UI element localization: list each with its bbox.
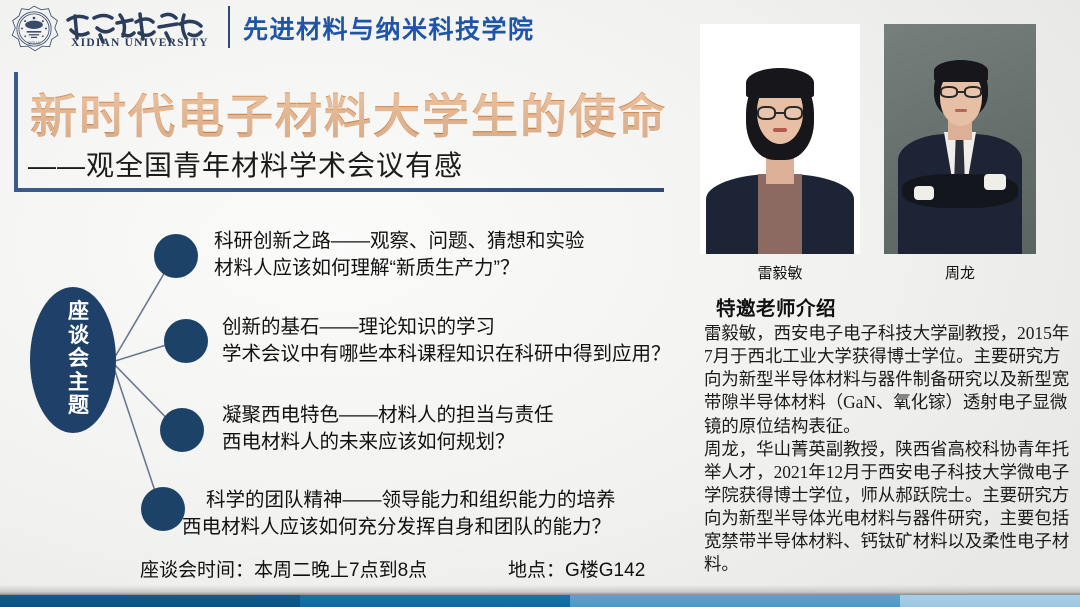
slide-header: XIDIAN XIDIAN UNIVERSITY 先进材料与纳米科技学院 <box>0 0 690 58</box>
svg-text:XIDIAN: XIDIAN <box>28 42 41 46</box>
university-english-name: XIDIAN UNIVERSITY <box>64 37 216 49</box>
bottom-strip-band-3 <box>570 595 900 607</box>
session-footer: 座谈会时间：本周二晚上7点到8点 地点：G楼G142 <box>0 555 690 585</box>
intro-body: 雷毅敏，西安电子电子科技大学副教授，2015年7月于西北工业大学获得博士学位。主… <box>704 322 1076 577</box>
center-label-c1: 座 <box>68 300 90 323</box>
vertical-divider-icon <box>228 6 230 48</box>
center-label-c4: 主 <box>68 371 90 394</box>
university-seal-icon: XIDIAN <box>8 4 60 56</box>
intro-paragraph-1: 雷毅敏，西安电子电子科技大学副教授，2015年7月于西北工业大学获得博士学位。主… <box>704 322 1076 438</box>
mindmap-item-3-text: 凝聚西电特色——材料人的担当与责任 西电材料人的未来应该如何规划？ <box>222 402 554 456</box>
bottom-strip-band-1 <box>0 595 300 607</box>
page-subtitle: ——观全国青年材料学术会议有感 <box>28 144 463 184</box>
item-4-line-1: 科学的团队精神——领导能力和组织能力的培养 <box>206 487 616 514</box>
portrait-lei-yimin <box>700 24 860 254</box>
item-3-line-1: 凝聚西电特色——材料人的担当与责任 <box>222 402 554 429</box>
page-title: 新时代电子材料大学生的使命 <box>30 78 667 147</box>
center-label-c5: 题 <box>68 394 90 417</box>
mindmap-item-1-text: 科研创新之路——观察、问题、猜想和实验 材料人应该如何理解“新质生产力”？ <box>214 228 585 282</box>
bottom-strip-band-4 <box>900 595 1080 607</box>
bottom-strip-band-2 <box>300 595 570 607</box>
item-2-line-2: 学术会议中有哪些本科课程知识在科研中得到应用？ <box>222 341 671 368</box>
session-time: 座谈会时间：本周二晚上7点到8点 <box>140 555 427 582</box>
mindmap-node-4[interactable] <box>141 487 185 531</box>
bottom-strip-shadow <box>0 585 1080 595</box>
portrait-caption-1: 雷毅敏 <box>700 262 860 283</box>
portrait-zhou-long <box>884 24 1036 254</box>
mindmap-node-1[interactable] <box>154 234 198 278</box>
item-1-line-2: 材料人应该如何理解“新质生产力”？ <box>214 255 585 282</box>
mindmap-node-1-number: 1 <box>166 448 186 465</box>
title-bracket-vertical <box>14 72 18 190</box>
intro-heading: 特邀老师介绍 <box>716 292 836 321</box>
mindmap-item-4-text: 科学的团队精神——领导能力和组织能力的培养 西电材料人应该如何充分发挥自身和团队… <box>206 487 616 541</box>
mindmap-item-2-text: 创新的基石——理论知识的学习 学术会议中有哪些本科课程知识在科研中得到应用？ <box>222 314 671 368</box>
title-bracket-horizontal <box>14 188 664 192</box>
mindmap-node-2[interactable] <box>164 319 208 363</box>
mindmap-center-label: 座 谈 会 主 题 <box>48 300 110 418</box>
center-label-c2: 谈 <box>68 324 90 347</box>
portrait-caption-2: 周龙 <box>884 262 1036 283</box>
slide-canvas: XIDIAN XIDIAN UNIVERSITY 先进材料与纳米科技学院 新时代… <box>0 0 1080 607</box>
bottom-strip <box>0 595 1080 607</box>
intro-paragraph-2: 周龙，华山菁英副教授，陕西省高校科协青年托举人才，2021年12月于西安电子科技… <box>704 438 1076 577</box>
item-2-line-1: 创新的基石——理论知识的学习 <box>222 314 671 341</box>
right-panel: 雷毅敏 周龙 特邀老师介绍 雷毅敏，西安电子电子科技大学副教授，2015年7月于… <box>690 0 1080 607</box>
item-4-line-2: 西电材料人应该如何充分发挥自身和团队的能力？ <box>182 514 616 541</box>
session-place: 地点：G楼G142 <box>508 555 645 582</box>
item-1-line-1: 科研创新之路——观察、问题、猜想和实验 <box>214 228 585 255</box>
center-label-c3: 会 <box>68 347 90 370</box>
school-title: 先进材料与纳米科技学院 <box>243 10 535 46</box>
mindmap-node-3[interactable] <box>160 408 204 452</box>
item-3-line-2: 西电材料人的未来应该如何规划？ <box>222 429 554 456</box>
